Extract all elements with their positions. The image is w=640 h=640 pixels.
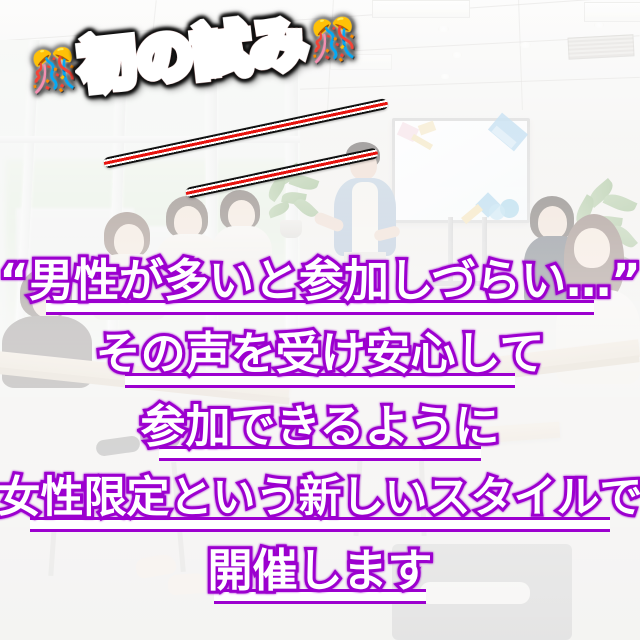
main-copy: “男性が多いと参加しづらい…” その声を受け安心して 参加できるように 女性限定… — [0, 258, 640, 604]
copy-line-1-block: “男性が多いと参加しづらい…” — [0, 258, 640, 315]
confetti-ball-icon-left: 🎊 — [27, 49, 81, 94]
copy-line-2: その声を受け安心して — [96, 331, 545, 377]
copy-line-1: “男性が多いと参加しづらい…” — [0, 258, 640, 304]
copy-line-3: 参加できるように — [140, 404, 499, 450]
confetti-ball-icon-right: 🎊 — [307, 18, 361, 63]
copy-line-4: 女性限定という新しいスタイルで — [0, 477, 640, 521]
copy-line-2-block: その声を受け安心して — [0, 331, 640, 388]
copy-line-4-block: 女性限定という新しいスタイルで — [0, 477, 640, 532]
poster-canvas: 🎊 初の試み 🎊 “男性が多いと参加しづらい…” その声を受け安心して 参加でき… — [0, 0, 640, 640]
copy-line-5: 開催します — [207, 548, 432, 594]
copy-line-3-block: 参加できるように — [0, 404, 640, 461]
copy-line-5-block: 開催します — [0, 548, 640, 605]
